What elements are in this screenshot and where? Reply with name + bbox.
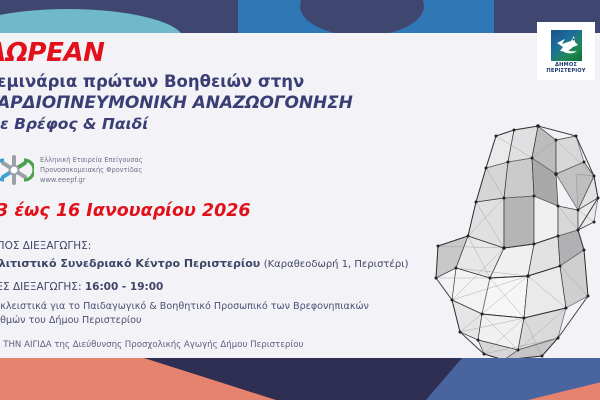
dove-icon: [551, 30, 582, 61]
organizer-website[interactable]: www.eeepf.gr: [40, 175, 143, 185]
audience-note-line-1: Αποκλειστικά για το Παιδαγωγικό & Βοηθητ…: [0, 300, 412, 314]
hours-label: ΩΡΕΣ ΔΙΕΞΑΓΩΓΗΣ:: [0, 281, 81, 293]
venue-address: (Καραθεοδωρή 1, Περιστέρι): [264, 259, 409, 270]
municipality-logo-text: ΔΗΜΟΣ ΠΕΡΙΣΤΕΡΙΟΥ: [546, 63, 585, 74]
municipality-logo: ΔΗΜΟΣ ΠΕΡΙΣΤΕΡΙΟΥ: [537, 22, 595, 80]
organizer-logo-text: Ελληνική Εταιρεία Επείγουσας Προνοσοκομε…: [40, 155, 143, 186]
subtitle-line-3: σε Βρέφος & Παιδί: [0, 115, 148, 133]
subtitle-line-2: ΚΑΡΔΙΟΠΝΕΥΜΟΝΙΚΗ ΑΝΑΖΩΟΓΟΝΗΣΗ: [0, 93, 353, 113]
subtitle-line-1: Σεμινάρια πρώτων Βοηθειών στην: [0, 72, 304, 91]
headline-free: ΔΩΡΕΑΝ: [0, 38, 105, 68]
venue-label: ΤΟΠΟΣ ΔΙΕΞΑΓΩΓΗΣ:: [0, 238, 452, 254]
hours-value: 16:00 - 19:00: [85, 281, 164, 293]
organizer-logo: Ελληνική Εταιρεία Επείγουσας Προνοσοκομε…: [0, 150, 143, 190]
poster-canvas: ΔΗΜΟΣ ΠΕΡΙΣΤΕΡΙΟΥ: [0, 0, 600, 400]
venue-name: Πολιτιστικό Συνεδριακό Κέντρο Περιστερίο…: [0, 257, 260, 270]
aegis-line: ΥΠΟ ΤΗΝ ΑΙΓΙΔΑ της Διεύθυνσης Προσχολική…: [0, 339, 422, 351]
municipality-logo-line2: ΠΕΡΙΣΤΕΡΙΟΥ: [546, 69, 585, 75]
event-details: ΤΟΠΟΣ ΔΙΕΞΑΓΩΓΗΣ: Πολιτιστικό Συνεδριακό…: [0, 238, 452, 296]
star-of-life-icon: [0, 150, 34, 190]
organizer-line-1: Ελληνική Εταιρεία Επείγουσας: [40, 155, 143, 165]
audience-note: Αποκλειστικά για το Παιδαγωγικό & Βοηθητ…: [0, 300, 412, 329]
top-banner: [0, 0, 600, 33]
bottom-banner: [0, 358, 600, 400]
venue-line: Πολιτιστικό Συνεδριακό Κέντρο Περιστερίο…: [0, 255, 452, 273]
audience-note-line-2: Σταθμών του Δήμου Περιστερίου: [0, 314, 412, 328]
top-banner-teal-ellipse: [0, 9, 184, 33]
event-date: 13 έως 16 Ιανουαρίου 2026: [0, 201, 251, 221]
organizer-line-2: Προνοσοκομειακής Φροντίδας: [40, 165, 143, 175]
hours-line: ΩΡΕΣ ΔΙΕΞΑΓΩΓΗΣ: 16:00 - 19:00: [0, 279, 452, 296]
